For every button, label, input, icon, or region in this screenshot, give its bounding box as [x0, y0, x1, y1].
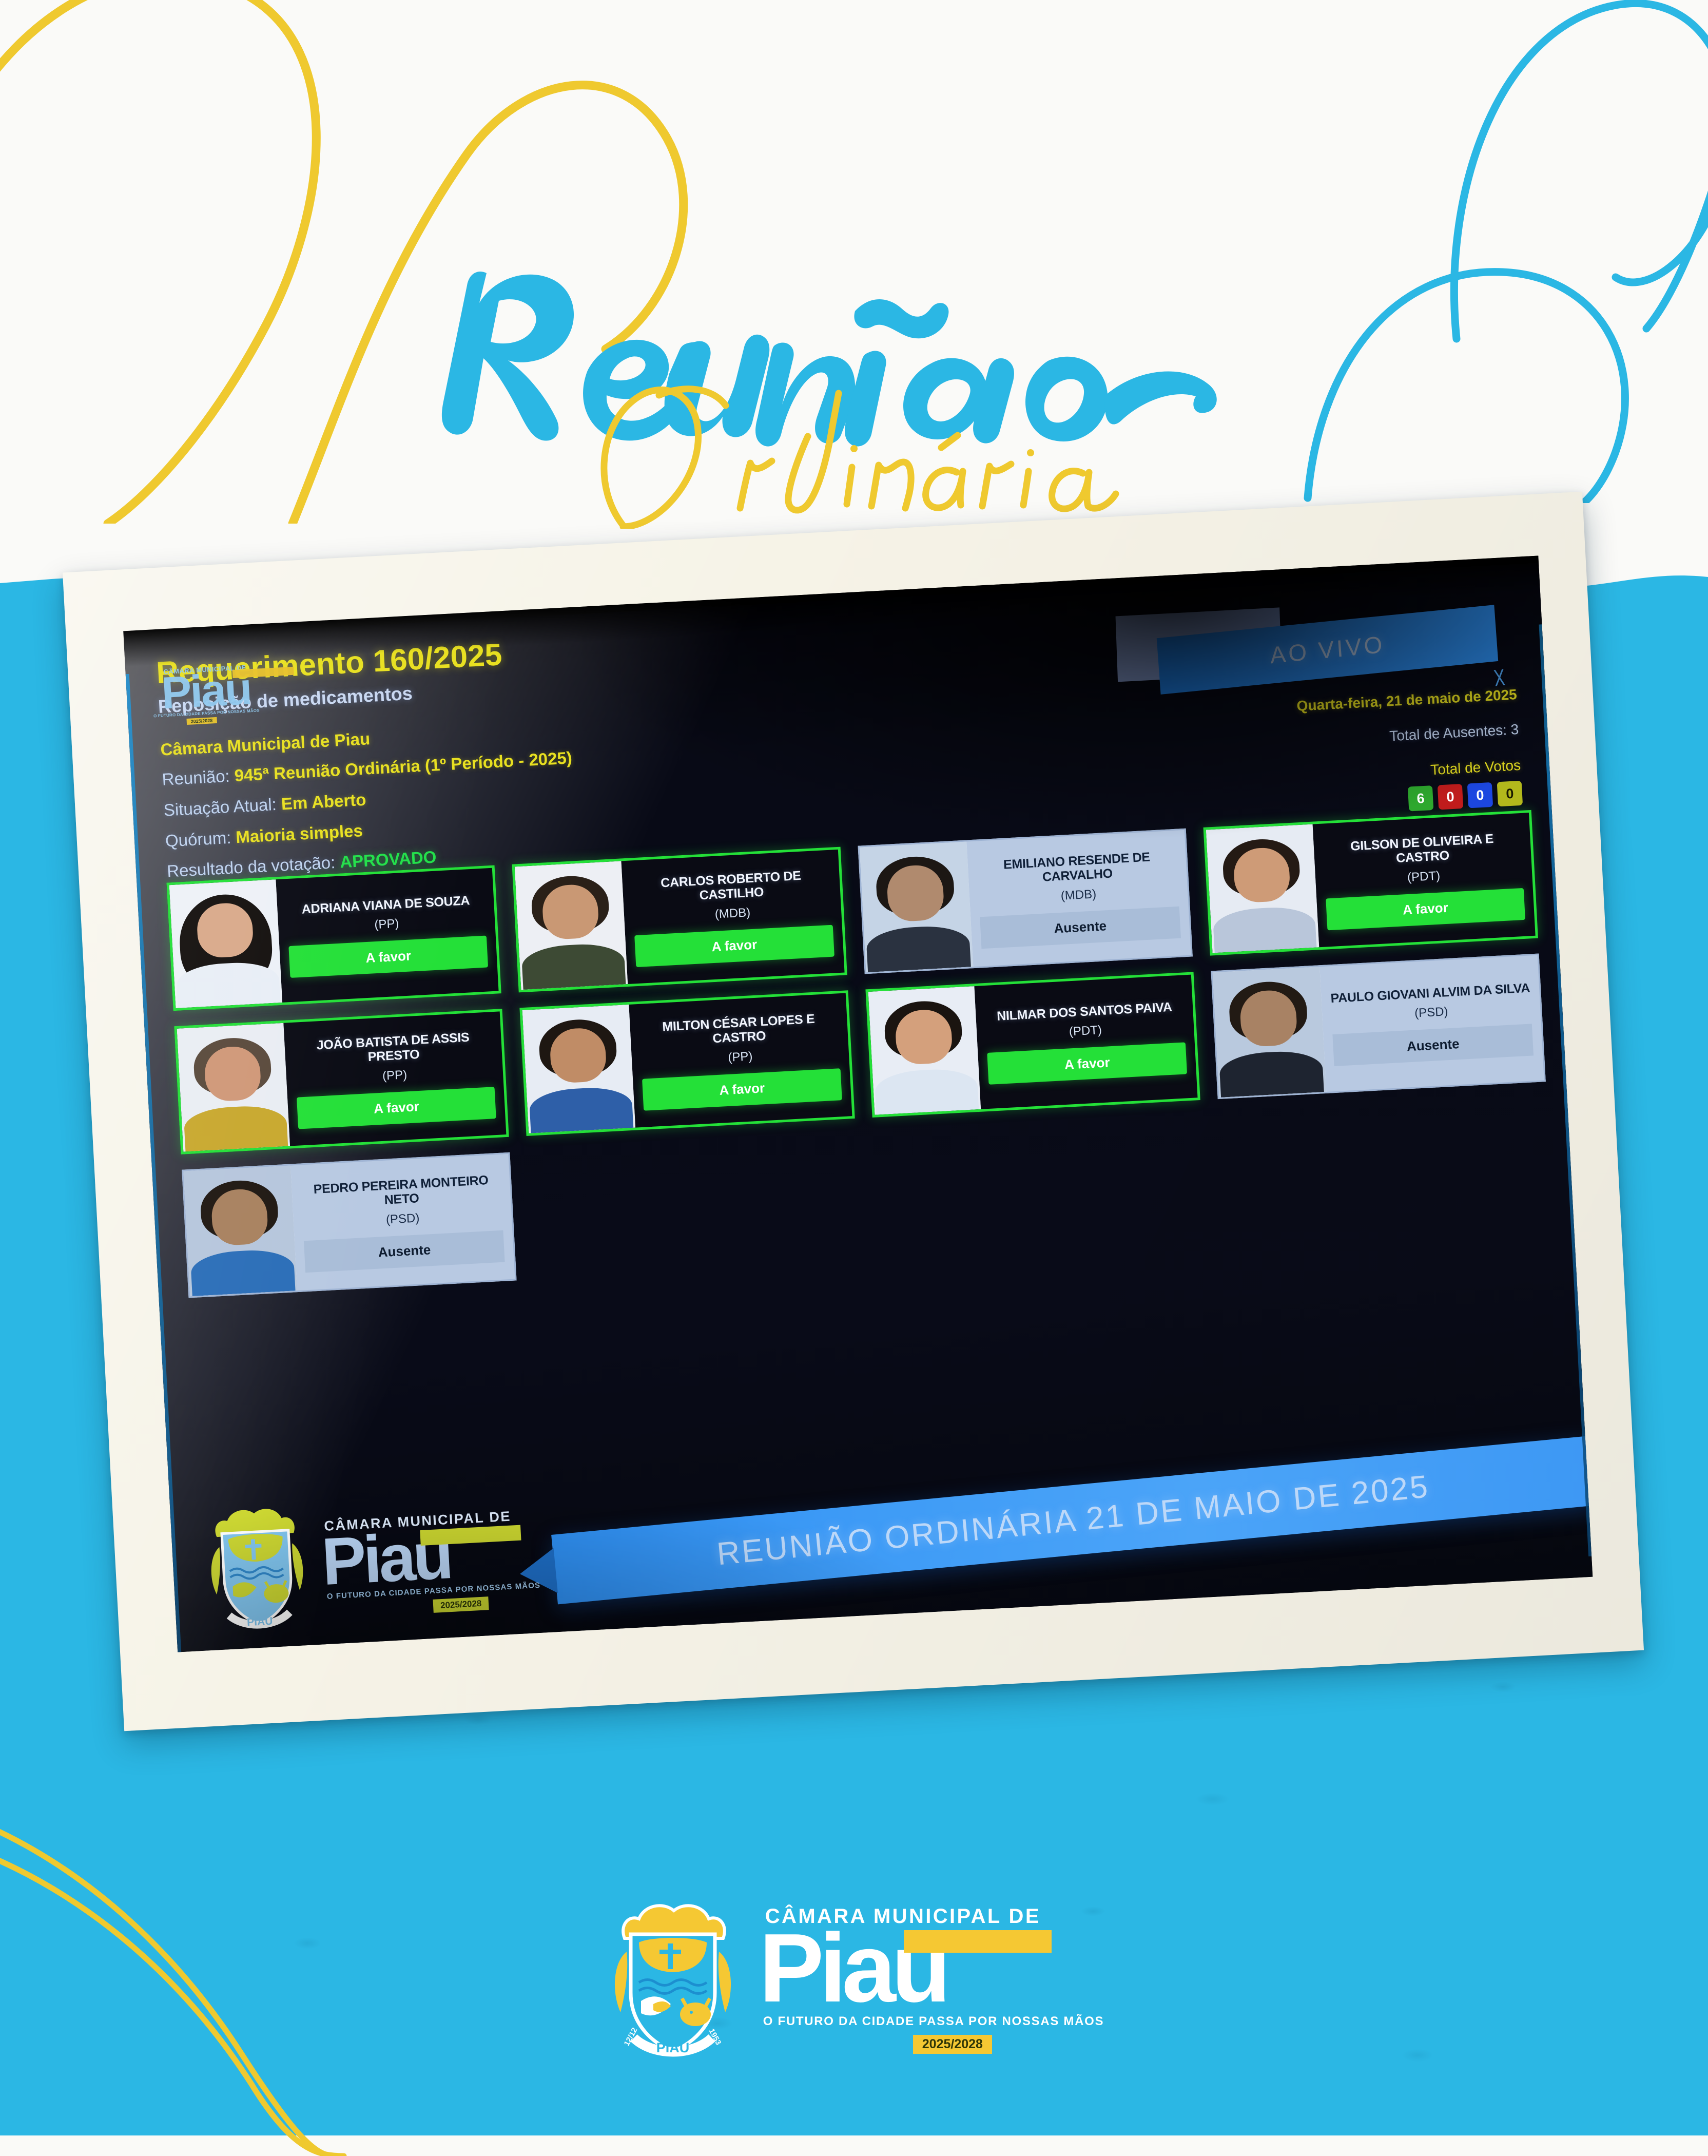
councillor-info: ADRIANA VIANA DE SOUZA(PP)A favor [276, 868, 498, 1003]
councillor-name: JOÃO BATISTA DE ASSIS PRESTO [294, 1029, 493, 1068]
screen-surface: CÂMARA MUNICIPAL DE Piau O FUTURO DA CID… [124, 563, 1593, 1652]
councillor-name: PEDRO PEREIRA MONTEIRO NETO [301, 1172, 501, 1212]
councillor-info: PAULO GIOVANI ALVIM DA SILVA(PSD)Ausente [1319, 955, 1544, 1092]
votes-against: 0 [1438, 784, 1463, 810]
screen-brand-logo: PIAU CÂMARA MUNICIPAL DE Piau O FUTURO D… [200, 1486, 542, 1632]
councillor-photo [859, 842, 973, 973]
councillor-party: (PDT) [1407, 869, 1440, 884]
coat-of-arms-icon: PIAU [200, 1498, 314, 1632]
screen-brand-bar: REUNIÃO ORDINÁRIA 21 DE MAIO DE 2025 [167, 1382, 1593, 1652]
brand-text-block: CÂMARA MUNICIPAL DE Piau O FUTURO DA CID… [320, 1507, 542, 1626]
watermark-wordmark: Piau [161, 669, 293, 711]
councillor-party: (MDB) [714, 906, 751, 922]
session-ribbon: REUNIÃO ORDINÁRIA 21 DE MAIO DE 2025 [551, 1436, 1593, 1604]
screen-watermark-logo: CÂMARA MUNICIPAL DE Piau O FUTURO DA CID… [137, 661, 294, 728]
live-badge-label: AO VIVO [1269, 630, 1386, 669]
councillor-photo [868, 986, 981, 1115]
footer-coat-of-arms-icon: PIAU 12/12 1953 [604, 1895, 742, 2058]
footer-years: 2025/2028 [913, 2035, 992, 2054]
councillor-card: JOÃO BATISTA DE ASSIS PRESTO(PP)A favor [174, 1009, 509, 1154]
close-icon[interactable]: ╳ [1495, 669, 1505, 686]
councillor-vote-status[interactable]: A favor [634, 925, 834, 967]
footer-wordmark: Piau [759, 1931, 1104, 2005]
crest-name: PIAU [656, 2040, 689, 2055]
status-label: Situação Atual: [163, 795, 277, 820]
councillor-party: (PP) [374, 917, 399, 933]
councillor-card: EMILIANO RESENDE DE CARVALHO(MDB)Ausente [858, 829, 1193, 974]
councillor-info: NILMAR DOS SANTOS PAIVA(PDT)A favor [975, 975, 1197, 1109]
councillor-name: PAULO GIOVANI ALVIM DA SILVA [1330, 980, 1530, 1006]
footer-text-block: CÂMARA MUNICIPAL DE Piau O FUTURO DA CID… [759, 1900, 1104, 2054]
meeting-label: Reunião: [162, 766, 230, 789]
councillor-info: MILTON CÉSAR LOPES E CASTRO(PP)A favor [629, 993, 852, 1127]
votes-abstain: 0 [1467, 782, 1493, 808]
councillor-photo [515, 861, 628, 990]
councillor-card: PEDRO PEREIRA MONTEIRO NETO(PSD)Ausente [182, 1152, 517, 1298]
councillor-photo [177, 1023, 290, 1152]
footer-accent-bar [904, 1930, 1052, 1953]
svg-text:PIAU: PIAU [247, 1615, 273, 1629]
councillor-vote-status[interactable]: A favor [288, 936, 488, 978]
councillor-party: (PSD) [385, 1211, 420, 1227]
session-ribbon-text: REUNIÃO ORDINÁRIA 21 DE MAIO DE 2025 [715, 1468, 1431, 1572]
brand-wordmark: Piau [321, 1525, 540, 1587]
councillor-card: GILSON DE OLIVEIRA E CASTRO(PDT)A favor [1203, 810, 1538, 956]
quorum-value: Maioria simples [235, 821, 363, 846]
councillor-card: ADRIANA VIANA DE SOUZA(PP)A favor [166, 865, 501, 1011]
councillor-name: EMILIANO RESENDE DE CARVALHO [977, 848, 1177, 888]
voting-display-screen: CÂMARA MUNICIPAL DE Piau O FUTURO DA CID… [123, 555, 1593, 1652]
brand-years: 2025/2028 [433, 1596, 489, 1613]
councillor-party: (PSD) [1414, 1005, 1449, 1021]
councillor-name: GILSON DE OLIVEIRA E CASTRO [1323, 830, 1522, 870]
councillor-card: NILMAR DOS SANTOS PAIVA(PDT)A favor [865, 972, 1200, 1118]
councillor-info: EMILIANO RESENDE DE CARVALHO(MDB)Ausente [966, 830, 1191, 967]
councillor-vote-status[interactable]: A favor [1326, 888, 1525, 930]
title-script-art [418, 241, 1290, 529]
councillor-card: PAULO GIOVANI ALVIM DA SILVA(PSD)Ausente [1211, 953, 1546, 1099]
councillor-name: ADRIANA VIANA DE SOUZA [301, 893, 470, 917]
watermark-years: 2025/2028 [186, 717, 217, 725]
councillor-photo [1212, 967, 1326, 1098]
polaroid-photo-frame: CÂMARA MUNICIPAL DE Piau O FUTURO DA CID… [63, 492, 1644, 1731]
total-absent: Total de Ausentes: 3 [1139, 721, 1519, 758]
councillor-info: JOÃO BATISTA DE ASSIS PRESTO(PP)A favor [283, 1011, 506, 1146]
meeting-value: 945ª Reunião Ordinária (1º Período - 202… [234, 748, 573, 785]
councillor-party: (MDB) [1060, 887, 1097, 903]
councillor-name: NILMAR DOS SANTOS PAIVA [997, 999, 1173, 1024]
councillor-vote-status[interactable]: A favor [642, 1068, 842, 1110]
votes-favor: 6 [1408, 785, 1433, 811]
quorum-label: Quórum: [165, 827, 231, 850]
proposal-header: Requerimento 160/2025 Reposição de medic… [156, 611, 1039, 882]
councillor-party: (PDT) [1069, 1023, 1102, 1039]
councillor-photo [1206, 824, 1319, 953]
councillor-grid: ADRIANA VIANA DE SOUZA(PP)A favorCARLOS … [166, 810, 1553, 1298]
councillor-party: (PP) [382, 1068, 407, 1084]
councillor-name: MILTON CÉSAR LOPES E CASTRO [639, 1010, 839, 1050]
councillor-info: PEDRO PEREIRA MONTEIRO NETO(PSD)Ausente [290, 1154, 515, 1291]
councillor-name: CARLOS ROBERTO DE CASTILHO [631, 867, 831, 906]
status-value: Em Aberto [281, 790, 366, 814]
councillor-photo [183, 1165, 297, 1296]
result-value: APROVADO [339, 848, 437, 872]
councillor-photo [169, 879, 282, 1008]
footer-brand-logo: PIAU 12/12 1953 CÂMARA MUNICIPAL DE Piau… [0, 1895, 1708, 2058]
councillor-info: CARLOS ROBERTO DE CASTILHO(MDB)A favor [622, 850, 844, 984]
votes-other: 0 [1497, 781, 1523, 806]
councillor-photo [522, 1005, 635, 1133]
councillor-card: CARLOS ROBERTO DE CASTILHO(MDB)A favor [512, 847, 847, 993]
councillor-vote-status[interactable]: A favor [297, 1087, 496, 1129]
councillor-vote-status[interactable]: A favor [987, 1043, 1187, 1085]
councillor-vote-status[interactable]: Ausente [304, 1230, 505, 1273]
councillor-card: MILTON CÉSAR LOPES E CASTRO(PP)A favor [520, 990, 855, 1136]
councillor-party: (PP) [728, 1049, 753, 1065]
councillor-vote-status[interactable]: Ausente [1332, 1024, 1534, 1067]
councillor-info: GILSON DE OLIVEIRA E CASTRO(PDT)A favor [1312, 813, 1535, 947]
councillor-vote-status[interactable]: Ausente [980, 906, 1181, 949]
